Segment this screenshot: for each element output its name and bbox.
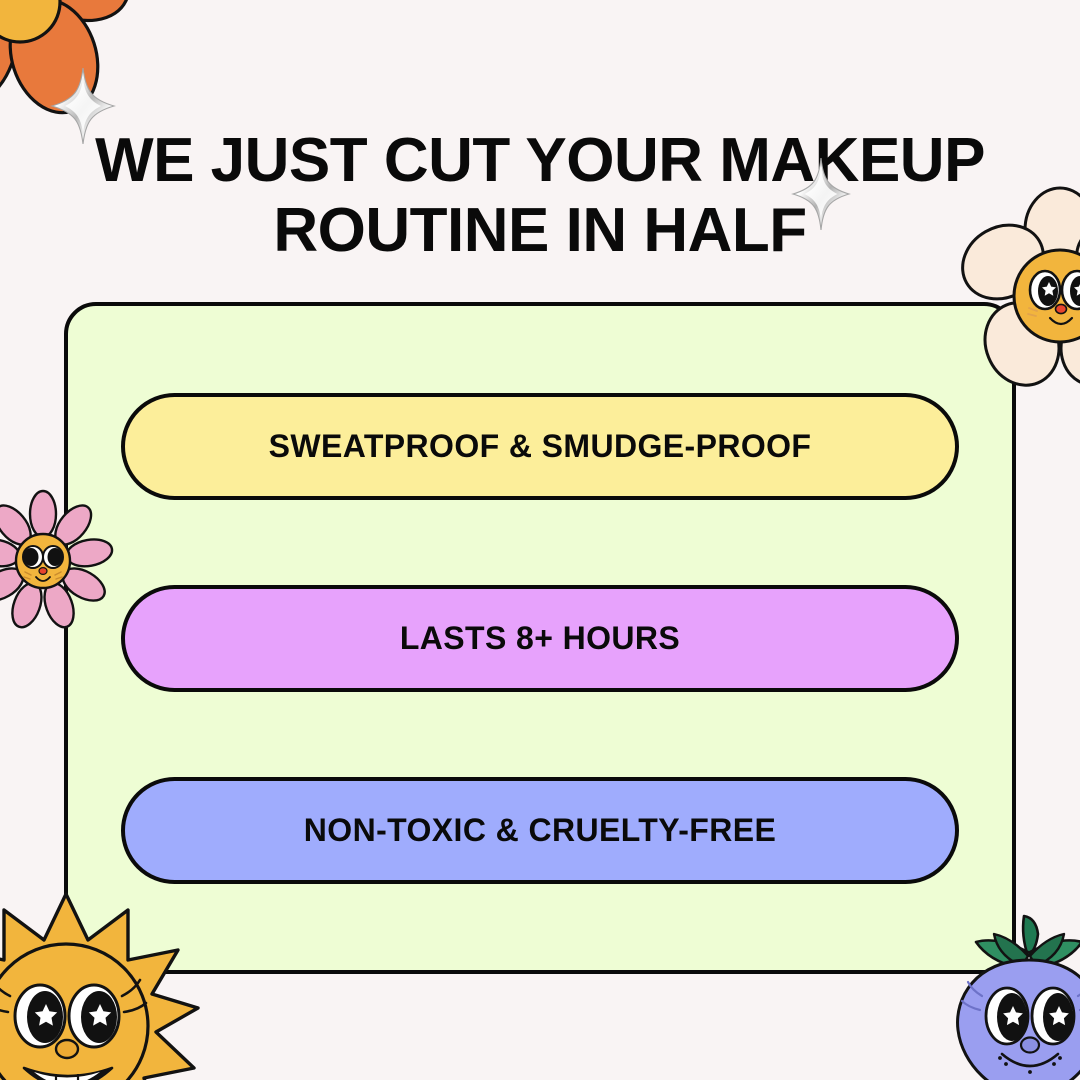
- benefit-pill-lasts-8-hours[interactable]: LASTS 8+ HOURS: [121, 585, 959, 692]
- headline-line-2: ROUTINE IN HALF: [0, 200, 1080, 262]
- flower-orange-icon: [0, 0, 152, 134]
- benefits-list: SWEATPROOF & SMUDGE-PROOF LASTS 8+ HOURS…: [68, 306, 1012, 970]
- benefit-pill-sweatproof[interactable]: SWEATPROOF & SMUDGE-PROOF: [121, 393, 959, 500]
- poster-canvas: SWEATPROOF & SMUDGE-PROOF LASTS 8+ HOURS…: [0, 0, 1080, 1080]
- headline-line-1: WE JUST CUT YOUR MAKEUP: [0, 130, 1080, 192]
- benefit-pill-non-toxic[interactable]: NON-TOXIC & CRUELTY-FREE: [121, 777, 959, 884]
- sparkle-icon: [52, 68, 114, 144]
- benefits-card: SWEATPROOF & SMUDGE-PROOF LASTS 8+ HOURS…: [64, 302, 1016, 974]
- benefit-label: SWEATPROOF & SMUDGE-PROOF: [269, 428, 812, 465]
- benefit-label: NON-TOXIC & CRUELTY-FREE: [304, 812, 776, 849]
- sparkle-icon: [793, 158, 849, 230]
- page-title: WE JUST CUT YOUR MAKEUP ROUTINE IN HALF: [0, 130, 1080, 262]
- benefit-label: LASTS 8+ HOURS: [400, 620, 680, 657]
